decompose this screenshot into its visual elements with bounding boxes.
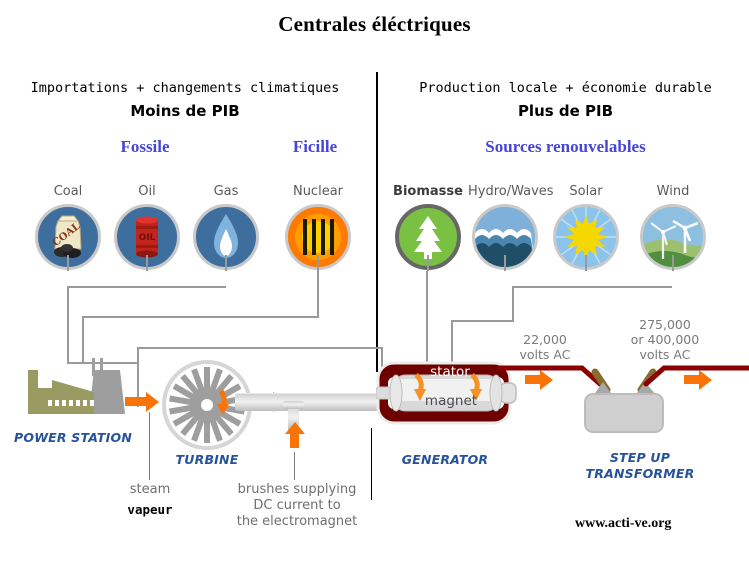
source-biomass-label: Biomasse	[391, 184, 465, 202]
oil-stem	[146, 255, 148, 271]
leader-steam	[149, 412, 150, 480]
note-steam-en: steam	[110, 482, 190, 498]
transformer-label-line1: STEP UP	[570, 450, 710, 465]
source-biomass[interactable]: Biomasse	[391, 184, 465, 270]
voltage-generator: 22,000 volts AC	[505, 332, 585, 362]
arrow-generator-output	[525, 370, 561, 390]
brush-head	[283, 400, 304, 409]
power-station-label: POWER STATION	[8, 430, 138, 445]
wire-biomass-down	[426, 271, 428, 368]
voltage-transformer-line1: 275,000	[610, 317, 720, 332]
wind-stem	[672, 255, 674, 271]
source-solar-label: Solar	[549, 184, 623, 202]
category-fossile: Fossile	[85, 137, 205, 157]
wire-plant-frame-top	[137, 347, 383, 349]
source-hydro-label: Hydro/Waves	[468, 184, 542, 202]
source-oil[interactable]: Oil OIL	[110, 184, 184, 270]
right-column-header: Production locale + économie durable	[382, 80, 749, 96]
note-brushes-line2: DC current to	[222, 498, 372, 514]
left-column-subheader: Moins de PIB	[0, 102, 370, 120]
wire-renew-left	[451, 320, 514, 322]
column-divider	[376, 72, 378, 372]
hydro-stem	[504, 255, 506, 271]
nuclear-stem	[317, 255, 319, 271]
source-gas-label: Gas	[189, 184, 263, 202]
coal-stem	[67, 255, 69, 271]
source-wind-label: Wind	[636, 184, 710, 202]
wire-renew-down	[512, 286, 514, 322]
wire-nuclear-down	[317, 271, 319, 317]
arrow-transformer-output	[684, 370, 720, 390]
generator-label: GENERATOR	[380, 452, 510, 467]
page-title: Centrales éléctriques	[0, 12, 749, 37]
note-brushes-line3: the electromagnet	[222, 514, 372, 530]
source-wind[interactable]: Wind	[636, 184, 710, 270]
turbine-label: TURBINE	[162, 452, 252, 467]
solar-stem	[585, 255, 587, 271]
gas-stem	[225, 255, 227, 271]
source-solar[interactable]: Solar	[549, 184, 623, 270]
leader-divider-lower	[371, 428, 372, 500]
voltage-transformer: 275,000 or 400,000 volts AC	[610, 317, 720, 362]
arrow-dc-current	[284, 422, 306, 452]
source-gas[interactable]: Gas	[189, 184, 263, 270]
left-column-header: Importations + changements climatiques	[0, 80, 370, 96]
source-nuclear[interactable]: Nuclear	[281, 184, 355, 270]
category-renouvelables: Sources renouvelables	[382, 137, 749, 157]
wire-nuclear-bus	[82, 316, 319, 318]
note-steam-fr: vapeur	[110, 502, 190, 517]
note-brushes-line1: brushes supplying	[222, 482, 372, 498]
website-footer: www.acti-ve.org	[575, 516, 671, 532]
source-nuclear-label: Nuclear	[281, 184, 355, 202]
voltage-generator-line2: volts AC	[505, 347, 585, 362]
note-brushes: brushes supplying DC current to the elec…	[222, 482, 372, 530]
arrow-steam-to-turbine	[125, 391, 165, 413]
source-coal-label: Coal	[31, 184, 105, 202]
category-ficille: Ficille	[255, 137, 375, 157]
drive-shaft	[235, 393, 385, 411]
wire-fossil-down	[67, 286, 69, 364]
source-coal[interactable]: Coal COAL	[31, 184, 105, 270]
wire-renew-bus	[512, 286, 672, 288]
transformer-label-line2: TRANSFORMER	[570, 466, 710, 481]
source-oil-label: Oil	[110, 184, 184, 202]
voltage-transformer-line3: volts AC	[610, 347, 720, 362]
voltage-transformer-line2: or 400,000	[610, 332, 720, 347]
power-station-icon	[22, 358, 132, 420]
leader-brushes	[294, 452, 295, 480]
voltage-generator-line1: 22,000	[505, 332, 585, 347]
svg-text:OIL: OIL	[139, 233, 156, 243]
biomass-stem	[427, 255, 429, 271]
stator-label: stator	[405, 364, 495, 380]
wire-fossil-bus	[67, 286, 226, 288]
source-hydro[interactable]: Hydro/Waves	[468, 184, 542, 270]
magnet-label: magnet	[406, 393, 496, 409]
wire-nuclear-to-plant	[82, 316, 84, 364]
right-column-subheader: Plus de PIB	[382, 102, 749, 120]
